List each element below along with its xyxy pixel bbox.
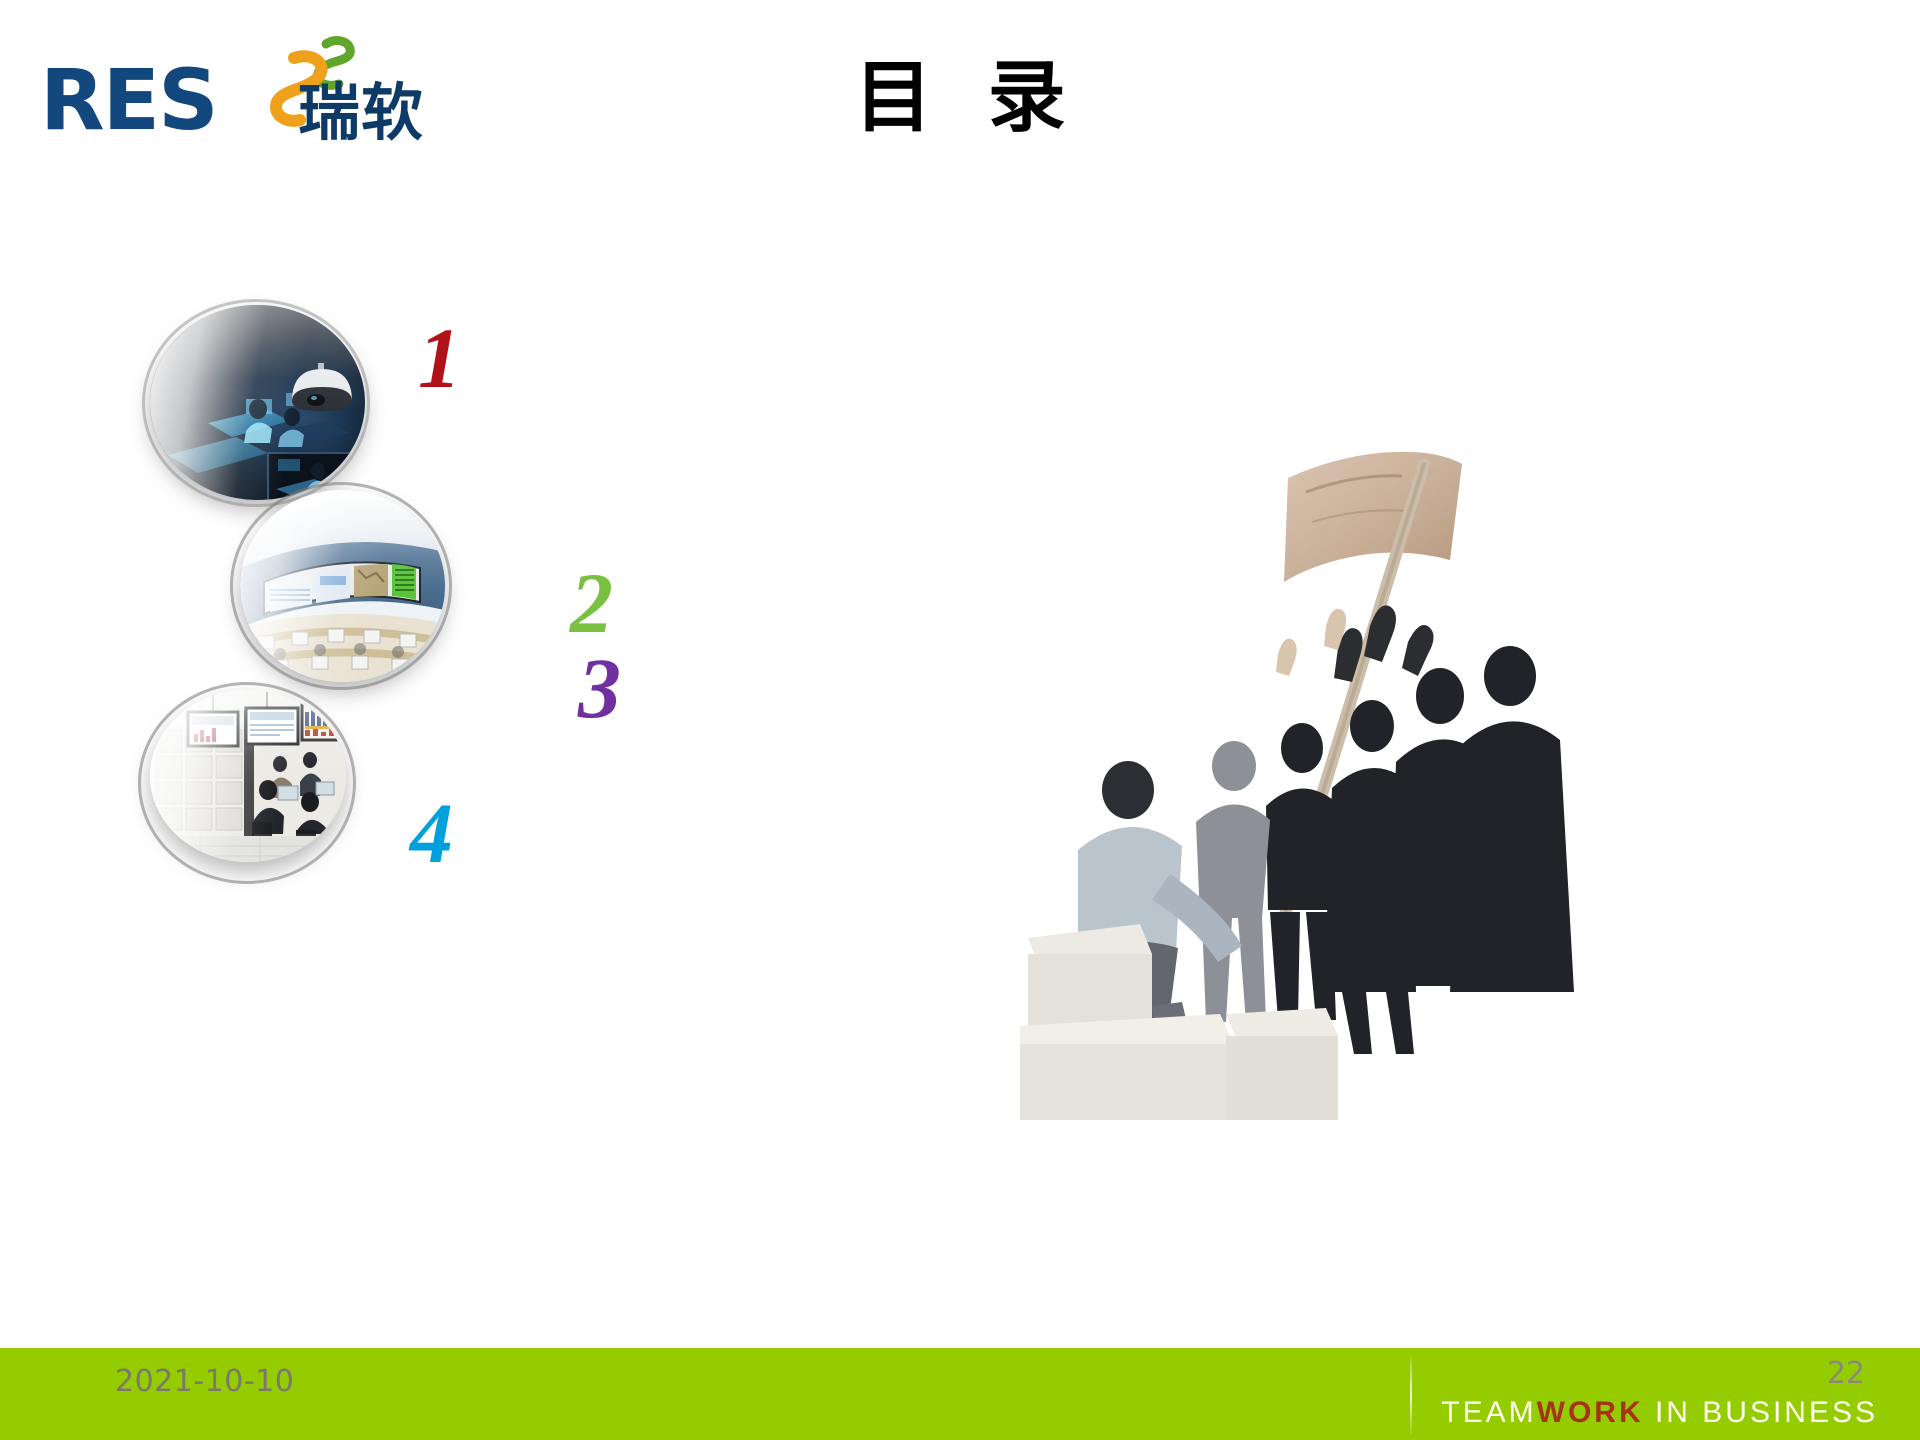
toc-thumbnail-3[interactable] xyxy=(150,690,346,862)
flag-icon xyxy=(1284,452,1462,582)
page-number: 22 xyxy=(0,1356,1865,1391)
toc-number-2: 2 xyxy=(570,560,613,646)
data-center-workstations-image xyxy=(150,690,346,862)
tagline-part1: TEAM xyxy=(1441,1396,1536,1429)
tagline-part2: IN BUSINESS xyxy=(1644,1396,1878,1429)
footer-tagline: TEAMWORK IN BUSINESS xyxy=(0,1396,1878,1430)
control-room-security-camera-image xyxy=(150,305,365,500)
toc-number-4: 4 xyxy=(410,790,453,876)
command-center-video-wall-image xyxy=(240,490,445,682)
toc-thumbnail-2[interactable] xyxy=(240,490,445,682)
toc-number-1: 1 xyxy=(418,315,461,401)
teamwork-illustration xyxy=(1020,430,1880,1120)
team-raising-flag-on-steps-image xyxy=(1020,430,1880,1120)
page-title: 目 录 xyxy=(0,52,1920,146)
toc-thumbnail-1[interactable] xyxy=(150,305,365,500)
slide-canvas: RES 瑞软 目 录 xyxy=(0,0,1920,1440)
slide-footer: 2021-10-10 22 TEAMWORK IN BUSINESS xyxy=(0,1348,1920,1440)
toc-number-3: 3 xyxy=(578,645,621,731)
tagline-highlight: WORK xyxy=(1537,1396,1644,1429)
